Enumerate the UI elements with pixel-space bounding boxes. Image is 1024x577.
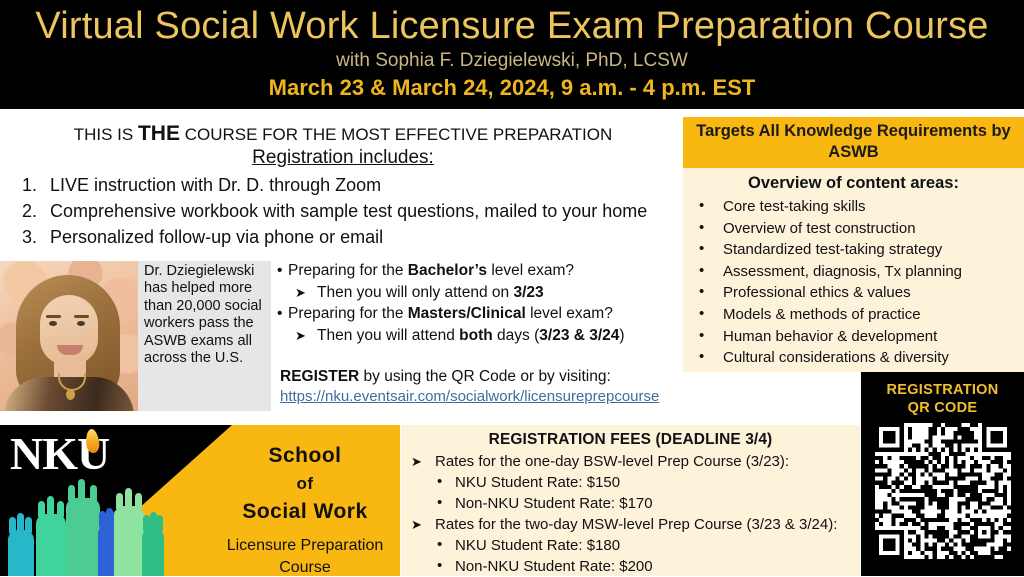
fee-group-row: Rates for the one-day BSW-level Prep Cou… [401, 451, 860, 472]
list-item-label: Personalized follow-up via phone or emai… [50, 227, 383, 247]
hand-6 [142, 528, 164, 576]
bachelor-question: Preparing for the Bachelor’s level exam? [277, 260, 677, 281]
fees-title: REGISTRATION FEES (DEADLINE 3/4) [401, 425, 860, 449]
bachelor-answer: Then you will only attend on 3/23 [277, 282, 677, 303]
hand-2 [36, 514, 66, 576]
bachelor-q-before: Preparing for the [288, 262, 408, 279]
nku-brand-banner: NKU School of Social Work Licensure Prep… [0, 425, 400, 576]
list-item-label: Comprehensive workbook with sample test … [50, 201, 647, 221]
list-item-label: LIVE instruction with Dr. D. through Zoo… [50, 175, 381, 195]
lead-suffix: COURSE FOR THE MOST EFFECTIVE PREPARATIO… [180, 125, 612, 144]
list-item-number: 1. [22, 172, 37, 198]
photo-eye-left [49, 321, 57, 326]
list-item: Cultural considerations & diversity [683, 347, 1024, 369]
list-item: 1.LIVE instruction with Dr. D. through Z… [14, 172, 674, 198]
fee-rate-row: Non-NKU Student Rate: $200 [401, 556, 860, 577]
bachelor-a-date: 3/23 [513, 284, 543, 301]
masters-a-after: ) [619, 327, 624, 344]
presenter-line: with Sophia F. Dziegielewski, PhD, LCSW [0, 48, 1024, 74]
bachelor-q-bold: Bachelor’s [408, 262, 487, 279]
photo-pendant [66, 389, 75, 400]
masters-a-both: both [459, 327, 493, 344]
date-line: March 23 & March 24, 2024, 9 a.m. - 4 p.… [0, 74, 1024, 102]
register-line: REGISTER by using the QR Code or by visi… [280, 367, 700, 387]
masters-q-before: Preparing for the [288, 305, 408, 322]
registration-fees-panel: REGISTRATION FEES (DEADLINE 3/4) Rates f… [401, 425, 860, 576]
hand-5 [114, 506, 144, 576]
list-item: Models & methods of practice [683, 304, 1024, 326]
qr-title-line-1: REGISTRATION [861, 381, 1024, 399]
bachelor-q-after: level exam? [487, 262, 574, 279]
list-item-number: 2. [22, 198, 37, 224]
photo-brow-left [46, 315, 61, 318]
lead-emphasis: THE [138, 122, 180, 145]
doctor-caption: Dr. Dziegielewski has helped more than 2… [144, 263, 268, 367]
masters-question: Preparing for the Masters/Clinical level… [277, 303, 677, 324]
masters-a-mid: days ( [493, 327, 540, 344]
list-item: 2.Comprehensive workbook with sample tes… [14, 198, 674, 224]
register-block: REGISTER by using the QR Code or by visi… [280, 367, 700, 407]
page-title: Virtual Social Work Licensure Exam Prepa… [0, 0, 1024, 48]
school-line-2: of [210, 471, 400, 497]
school-subtitle: Licensure Preparation Course [210, 535, 400, 576]
photo-brow-right [74, 315, 89, 318]
exam-path-block: Preparing for the Bachelor’s level exam?… [277, 260, 677, 346]
hand-1 [8, 530, 34, 576]
photo-eye-right [77, 321, 85, 326]
list-item: Standardized test-taking strategy [683, 239, 1024, 261]
aswb-panel-header: Targets All Knowledge Requirements by AS… [683, 117, 1024, 168]
masters-answer: Then you will attend both days (3/23 & 3… [277, 325, 677, 346]
lead-prefix: THIS IS [74, 125, 138, 144]
masters-q-after: level exam? [526, 305, 613, 322]
list-item: Professional ethics & values [683, 282, 1024, 304]
register-bold: REGISTER [280, 368, 359, 385]
list-item: Human behavior & development [683, 326, 1024, 348]
header-banner: Virtual Social Work Licensure Exam Prepa… [0, 0, 1024, 109]
list-item: 3.Personalized follow-up via phone or em… [14, 224, 674, 250]
masters-a-dates: 3/23 & 3/24 [539, 327, 619, 344]
fee-rate-row: NKU Student Rate: $180 [401, 535, 860, 556]
qr-code-image[interactable] [875, 423, 1011, 559]
registration-includes-list: 1.LIVE instruction with Dr. D. through Z… [14, 172, 674, 250]
list-item-number: 3. [22, 224, 37, 250]
qr-title: REGISTRATION QR CODE [861, 372, 1024, 417]
school-line-3: Social Work [210, 497, 400, 527]
list-item: Core test-taking skills [683, 196, 1024, 218]
masters-a-before: Then you will attend [317, 327, 459, 344]
qr-code-panel: REGISTRATION QR CODE [861, 372, 1024, 576]
fee-group-row: Rates for the two-day MSW-level Prep Cou… [401, 514, 860, 535]
list-item: Assessment, diagnosis, Tx planning [683, 261, 1024, 283]
school-line-1: School [210, 441, 400, 471]
list-item: Overview of test construction [683, 218, 1024, 240]
fee-rate-row: NKU Student Rate: $150 [401, 472, 860, 493]
raised-hands-graphic [6, 487, 166, 576]
register-text: by using the QR Code or by visiting: [359, 368, 611, 385]
flyer-canvas: Virtual Social Work Licensure Exam Prepa… [0, 0, 1024, 576]
aswb-subheading: Overview of content areas: [683, 168, 1024, 196]
bachelor-a-before: Then you will only attend on [317, 284, 513, 301]
registration-includes-label: Registration includes: [252, 147, 434, 168]
masters-q-bold: Masters/Clinical [408, 305, 526, 322]
qr-title-line-2: QR CODE [861, 399, 1024, 417]
registration-includes-heading: Registration includes: [18, 146, 668, 170]
lead-statement: THIS IS THE COURSE FOR THE MOST EFFECTIV… [18, 123, 668, 146]
hand-3 [66, 498, 100, 576]
aswb-panel: Targets All Knowledge Requirements by AS… [683, 117, 1024, 372]
fee-rate-row: Non-NKU Student Rate: $170 [401, 493, 860, 514]
doctor-profile-block: Dr. Dziegielewski has helped more than 2… [0, 261, 271, 411]
doctor-photo [0, 261, 138, 411]
fees-list: Rates for the one-day BSW-level Prep Cou… [401, 451, 860, 577]
school-of-social-work-lockup: School of Social Work Licensure Preparat… [210, 441, 400, 576]
aswb-content-areas-list: Core test-taking skillsOverview of test … [683, 196, 1024, 369]
registration-url-link[interactable]: https://nku.eventsair.com/socialwork/lic… [280, 387, 700, 407]
